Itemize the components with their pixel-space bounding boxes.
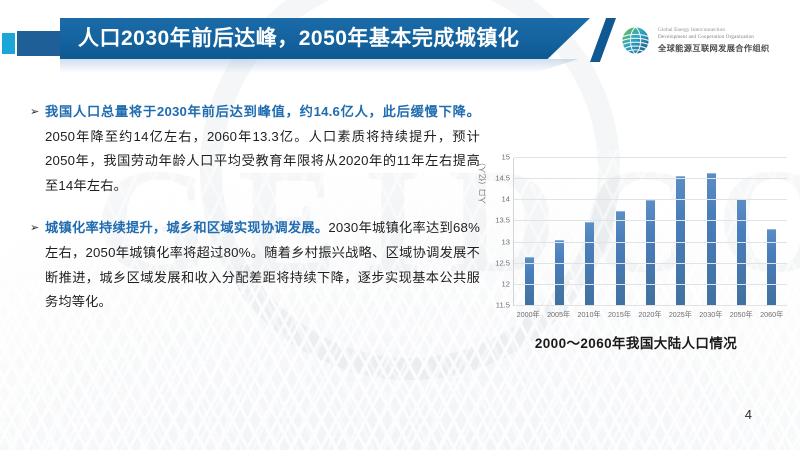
- chart-gridline: 11.5: [514, 305, 787, 306]
- banner-slash-accent: [590, 18, 616, 62]
- chart-x-tick-label: 2000年: [513, 310, 543, 320]
- organization-logo: Global Energy Interconnection Developmen…: [620, 18, 795, 62]
- chart-x-tick-label: 2030年: [696, 310, 726, 320]
- chart-x-tick-label: 2015年: [604, 310, 634, 320]
- chart-y-axis-title: 人口（亿人）: [477, 158, 488, 204]
- chart-y-tick-label: 14.5: [495, 174, 510, 183]
- chart-bar: [707, 173, 716, 306]
- banner-shadow: [60, 59, 600, 73]
- chart-y-tick-label: 12: [502, 279, 510, 288]
- logo-english-line2: Development and Cooperation Organization: [658, 34, 770, 41]
- bullet-item: ➢ 我国人口总量将于2030年前后达到峰值，约14.6亿人，此后缓慢下降。205…: [28, 100, 480, 198]
- chart-x-tick-label: 2060年: [757, 310, 787, 320]
- page-number: 4: [745, 407, 752, 422]
- chart-plot-area: 11.51212.51313.51414.515: [513, 158, 787, 306]
- bullet-highlight: 城镇化率持续提升，城乡和区域实现协调发展。: [45, 220, 328, 235]
- bullet-rest: 2050年降至约14亿左右，2060年13.3亿。人口素质将持续提升，预计205…: [45, 129, 480, 193]
- chart-y-tick-label: 13: [502, 237, 510, 246]
- chart-y-tick-label: 14: [502, 195, 510, 204]
- chart-gridline: 13.5: [514, 220, 787, 221]
- slide-header: 人口2030年前后达峰，2050年基本完成城镇化: [0, 0, 800, 78]
- chart-gridline: 14: [514, 199, 787, 200]
- chart-gridline: 14.5: [514, 178, 787, 179]
- bullet-item: ➢ 城镇化率持续提升，城乡和区域实现协调发展。2030年城镇化率达到68%左右，…: [28, 216, 480, 314]
- chart-y-tick-label: 15: [502, 153, 510, 162]
- logo-chinese-name: 全球能源互联网发展合作组织: [658, 43, 770, 54]
- chart-bar: [616, 211, 625, 306]
- globe-logo-icon: [620, 25, 651, 56]
- bullet-text: 城镇化率持续提升，城乡和区域实现协调发展。2030年城镇化率达到68%左右，20…: [45, 216, 480, 314]
- chart-bar: [555, 240, 564, 306]
- chart-x-tick-label: 2025年: [665, 310, 695, 320]
- chart-bar: [585, 222, 594, 306]
- chart-x-tick-label: 2010年: [574, 310, 604, 320]
- decorative-navy-block: [15, 29, 63, 58]
- chart-caption: 2000～2060年我国大陆人口情况: [477, 332, 795, 352]
- chart-y-tick-label: 11.5: [496, 301, 510, 310]
- chart-gridline: 15: [514, 157, 787, 158]
- chart-x-axis-labels: 2000年2005年2010年2015年2020年2025年2030年2050年…: [513, 310, 787, 320]
- page-title: 人口2030年前后达峰，2050年基本完成城镇化: [78, 20, 568, 57]
- chart-x-tick-label: 2005年: [544, 310, 574, 320]
- chart-x-tick-label: 2020年: [635, 310, 665, 320]
- content-body: ➢ 我国人口总量将于2030年前后达到峰值，约14.6亿人，此后缓慢下降。205…: [28, 100, 480, 333]
- bullet-arrow-icon: ➢: [28, 100, 45, 124]
- bullet-text: 我国人口总量将于2030年前后达到峰值，约14.6亿人，此后缓慢下降。2050年…: [45, 100, 480, 198]
- slide-canvas: GEIDCO 人口2030年前后达峰，2050年基本完成城镇化: [0, 0, 800, 450]
- chart-gridline: 13: [514, 242, 787, 243]
- chart-bar: [737, 199, 746, 306]
- chart-bar: [525, 257, 534, 306]
- bullet-arrow-icon: ➢: [28, 216, 45, 240]
- chart-bar: [767, 229, 776, 306]
- logo-text-block: Global Energy Interconnection Developmen…: [658, 27, 770, 54]
- chart-gridline: 12: [514, 284, 787, 285]
- chart-gridline: 12.5: [514, 263, 787, 264]
- chart-x-tick-label: 2050年: [726, 310, 756, 320]
- chart-bar: [646, 200, 655, 306]
- chart-y-tick-label: 12.5: [495, 258, 510, 267]
- logo-english-line1: Global Energy Interconnection: [658, 27, 770, 34]
- chart-y-tick-label: 13.5: [495, 216, 510, 225]
- population-bar-chart: 人口（亿人） 11.51212.51313.51414.515 2000年200…: [477, 152, 795, 332]
- bullet-highlight: 我国人口总量将于2030年前后达到峰值，约14.6亿人，此后缓慢下降。: [45, 104, 480, 119]
